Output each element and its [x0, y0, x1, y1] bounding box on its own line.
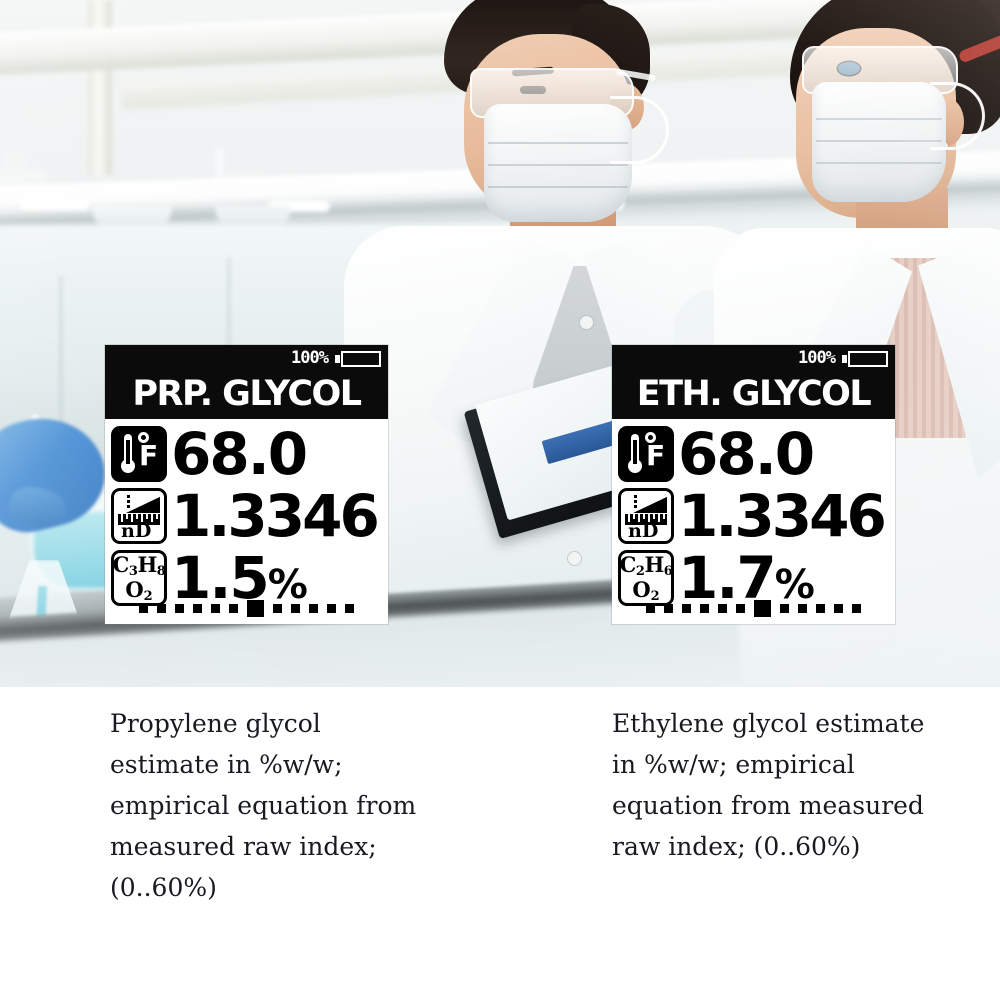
- readout-row-refractive-index: nD 1.3346: [111, 485, 388, 547]
- formula-line-1: C3H8: [113, 554, 166, 578]
- temperature-value: 68.0: [678, 425, 813, 483]
- refractive-index-value: 1.3346: [171, 487, 377, 545]
- caption-area: Propylene glycol estimate in %w/w; empir…: [0, 687, 1000, 994]
- battery-full-icon: [842, 351, 888, 367]
- thermometer-fahrenheit-icon: F: [111, 426, 167, 482]
- concentration-value: 1.5%: [171, 549, 306, 607]
- mask-pleat: [488, 186, 628, 188]
- refractive-index-nd-icon: nD: [618, 488, 674, 544]
- thermometer-fahrenheit-icon: F: [618, 426, 674, 482]
- laboratory-photo: 100% PRP. GLYCOL F 68.0: [0, 0, 1000, 687]
- display-readouts: F 68.0: [612, 419, 895, 624]
- scale-position-indicator: [105, 600, 388, 617]
- mask-pleat: [816, 118, 942, 120]
- battery-full-icon: [335, 351, 381, 367]
- mask-pleat: [816, 162, 942, 164]
- refractive-index-nd-icon: nD: [111, 488, 167, 544]
- status-bar: 100%: [612, 345, 895, 372]
- mask-pleat: [488, 164, 628, 166]
- refractive-index-value: 1.3346: [678, 487, 884, 545]
- coat-button: [580, 316, 593, 329]
- scale-position-indicator: [612, 600, 895, 617]
- mask-ear-loop: [610, 96, 669, 164]
- battery-percent-label: 100%: [291, 350, 328, 367]
- nd-icon-label: nD: [121, 522, 151, 541]
- mask-pleat: [488, 142, 628, 144]
- coat-button: [568, 552, 581, 565]
- caption-propylene-glycol: Propylene glycol estimate in %w/w; empir…: [110, 703, 430, 908]
- display-title: PRP. GLYCOL: [105, 372, 388, 419]
- propylene-glycol-formula-icon: C3H8 O2: [111, 550, 167, 606]
- formula-line-2: O2: [125, 579, 152, 603]
- refractometer-display-right[interactable]: 100% ETH. GLYCOL F 68.0: [612, 345, 895, 624]
- readout-row-refractive-index: nD 1.3346: [618, 485, 895, 547]
- formula-line-2: O2: [632, 579, 659, 603]
- formula-line-1: C2H6: [620, 554, 673, 578]
- temperature-value: 68.0: [171, 425, 306, 483]
- display-title: ETH. GLYCOL: [612, 372, 895, 419]
- concentration-value: 1.7%: [678, 549, 813, 607]
- nd-icon-label: nD: [628, 522, 658, 541]
- face-mask: [812, 82, 946, 202]
- ethylene-glycol-formula-icon: C2H6 O2: [618, 550, 674, 606]
- battery-percent-label: 100%: [798, 350, 835, 367]
- shelf-post: [88, 0, 112, 175]
- display-readouts: F 68.0: [105, 419, 388, 624]
- refractometer-display-left[interactable]: 100% PRP. GLYCOL F 68.0: [105, 345, 388, 624]
- readout-row-temperature: F 68.0: [618, 423, 895, 485]
- status-bar: 100%: [105, 345, 388, 372]
- under-shelf-light-1: [20, 198, 90, 210]
- caption-ethylene-glycol: Ethylene glycol estimate in %w/w; empiri…: [612, 703, 932, 867]
- readout-row-temperature: F 68.0: [111, 423, 388, 485]
- mask-pleat: [816, 140, 942, 142]
